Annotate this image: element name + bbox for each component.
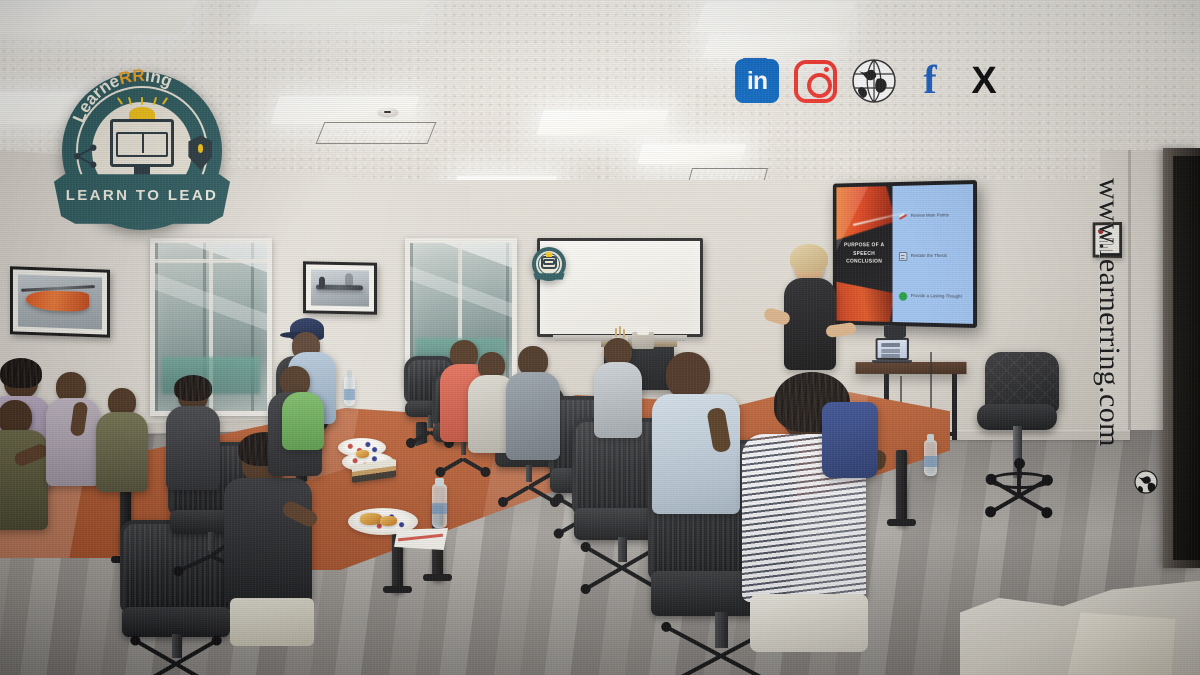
whiteboard-logo-sticker xyxy=(532,247,566,281)
ceiling-light-panel xyxy=(0,0,201,34)
instagram-icon[interactable] xyxy=(794,60,837,103)
classroom-photo: PURPOSE OF A SPEECH CONCLUSION Review Ma… xyxy=(0,0,1200,675)
presenter-torso xyxy=(784,278,836,370)
slide-bullet-text: Review Main Points xyxy=(911,213,949,218)
slide-bullet: Restate the Thesis xyxy=(899,252,968,261)
website-globe-icon[interactable] xyxy=(852,59,896,103)
chair-base xyxy=(124,655,227,672)
student xyxy=(282,382,326,452)
chair-base xyxy=(434,453,491,463)
student xyxy=(166,380,224,492)
student xyxy=(506,346,564,462)
food-item xyxy=(356,450,369,458)
student-torso xyxy=(506,372,560,460)
water-bottle[interactable] xyxy=(432,484,447,528)
student xyxy=(652,352,742,548)
student-torso xyxy=(594,362,642,438)
tv-wall-mount xyxy=(884,326,906,338)
student-shorts xyxy=(230,598,314,646)
aircraft-photo-image xyxy=(311,269,369,306)
student-hair xyxy=(174,375,212,401)
student xyxy=(96,388,152,494)
laptop[interactable] xyxy=(872,338,912,364)
ceiling-light-panel xyxy=(536,110,668,135)
wall-mounted-display[interactable]: PURPOSE OF A SPEECH CONCLUSION Review Ma… xyxy=(833,180,977,328)
ceiling-light-panel xyxy=(702,34,838,58)
learnerring-logo: LearneRRing LEARN TO LEAD xyxy=(62,72,222,230)
stool-base xyxy=(981,486,1057,512)
ceiling-air-vent xyxy=(316,122,437,144)
student-torso xyxy=(166,406,220,490)
slide-title-line: CONCLUSION xyxy=(844,258,884,266)
presenter-hair xyxy=(790,244,828,272)
student xyxy=(822,392,882,482)
helicopter-photo-image xyxy=(18,275,102,330)
doorway[interactable] xyxy=(1163,148,1200,568)
whiteboard xyxy=(537,238,703,337)
social-icon-row: in f X xyxy=(735,57,1004,105)
pencil-icon xyxy=(623,329,625,338)
logo-open-book-icon xyxy=(116,132,167,157)
x-twitter-icon[interactable]: X xyxy=(964,59,1004,103)
logo-tagline: LEARN TO LEAD xyxy=(66,187,219,204)
document-icon xyxy=(899,252,907,261)
smoke-detector-icon xyxy=(378,108,398,116)
student-torso xyxy=(96,412,148,492)
website-url-vertical: www.learnerring.com xyxy=(1082,178,1126,508)
student-torso xyxy=(822,402,878,478)
logo-book-icon xyxy=(543,259,556,265)
student xyxy=(594,338,646,438)
stool-caster xyxy=(1017,462,1021,495)
ceiling-light-panel xyxy=(248,0,431,24)
table-leg xyxy=(896,450,907,526)
student-hair xyxy=(0,358,42,388)
slide-bullet-text: Provide a Lasting Thought xyxy=(911,294,962,300)
ceiling-light-panel xyxy=(695,2,856,32)
student-torso xyxy=(652,394,740,514)
slide-bullet-text: Restate the Thesis xyxy=(911,254,947,259)
presentation-slide: PURPOSE OF A SPEECH CONCLUSION Review Ma… xyxy=(836,184,973,324)
ceiling-light-panel xyxy=(638,144,747,164)
chair-seat xyxy=(122,607,230,637)
student-torso xyxy=(224,478,312,604)
student-head xyxy=(0,400,32,434)
food-item xyxy=(360,513,382,525)
student-torso xyxy=(282,392,324,450)
stool-caster xyxy=(1018,494,1049,514)
logo-sun-icon xyxy=(546,252,553,256)
stool-backrest xyxy=(985,352,1059,412)
facebook-glyph: f xyxy=(911,59,949,103)
chair-caster xyxy=(665,626,721,659)
framed-photo-aircraft xyxy=(303,261,377,314)
laptop-keyboard[interactable] xyxy=(872,360,912,363)
slide-title-line: SPEECH xyxy=(844,250,884,258)
drafting-stool[interactable] xyxy=(975,352,1061,520)
slide-title-line: PURPOSE OF A xyxy=(844,242,884,250)
linkedin-glyph: in xyxy=(735,59,779,103)
napkin xyxy=(394,528,448,550)
student xyxy=(0,400,52,530)
slide-bullet: Provide a Lasting Thought xyxy=(899,292,968,302)
student-shorts xyxy=(750,594,868,652)
laptop-screen xyxy=(876,338,909,360)
student-head xyxy=(666,352,710,398)
slide-title: PURPOSE OF A SPEECH CONCLUSION xyxy=(841,242,887,266)
linkedin-icon[interactable]: in xyxy=(735,59,779,103)
website-globe-icon-small xyxy=(1134,470,1158,494)
logo-tagline-ribbon: LEARN TO LEAD xyxy=(54,170,230,224)
slide-bullet-panel: Review Main Points Restate the Thesis Pr… xyxy=(892,184,973,324)
food-item xyxy=(380,516,397,526)
logo-network-node-icon xyxy=(73,142,99,170)
water-bottle[interactable] xyxy=(924,440,937,476)
stool-caster xyxy=(989,494,1020,514)
water-bottle[interactable] xyxy=(344,376,355,406)
facebook-icon[interactable]: f xyxy=(911,59,949,103)
pencil-icon xyxy=(619,326,621,335)
green-dot-icon xyxy=(899,292,907,301)
framed-photo-helicopter xyxy=(10,266,110,337)
chair-caster xyxy=(134,639,177,666)
x-glyph: X xyxy=(964,59,1004,103)
pencil-icon xyxy=(615,328,617,337)
